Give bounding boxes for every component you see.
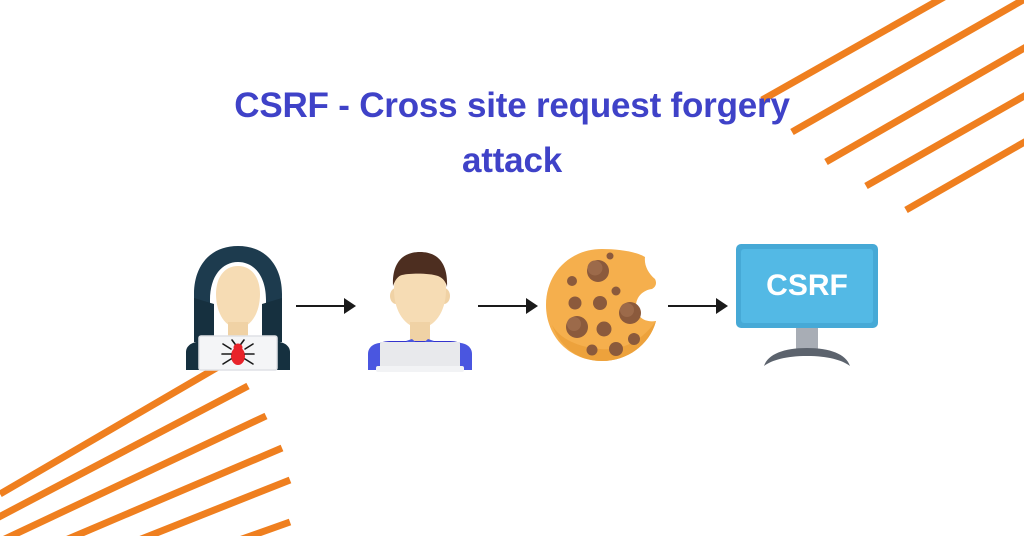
arrow-shaft: [296, 305, 348, 307]
flow-step-target-monitor: CSRF: [734, 242, 880, 370]
orange-diagonal-stripes-bottom-left: [0, 376, 290, 536]
arrow-shaft: [668, 305, 720, 307]
arrow-attacker-to-user: [296, 295, 362, 317]
arrow-user-to-cookie: [478, 295, 544, 317]
page-title-line-2: attack: [0, 133, 1024, 188]
cookie-icon: [544, 247, 668, 365]
page-title-line-1: CSRF - Cross site request forgery: [0, 78, 1024, 133]
flow-step-victim: [362, 242, 478, 370]
user-laptop-screen: [380, 342, 460, 370]
arrow-head: [526, 298, 538, 314]
monitor-screen-label: CSRF: [766, 269, 848, 302]
user-laptop-base: [376, 366, 464, 372]
arrow-head: [716, 298, 728, 314]
flow-step-cookie: [544, 247, 668, 365]
monitor-stand-base: [764, 348, 850, 366]
stripes-svg-bottom-left: [0, 376, 290, 536]
infographic-canvas: CSRF - Cross site request forgery attack: [0, 0, 1024, 536]
page-title: CSRF - Cross site request forgery attack: [0, 78, 1024, 189]
flow-step-attacker: [180, 242, 296, 370]
user-icon: [362, 242, 478, 370]
hacker-icon: [180, 242, 296, 370]
hacker-face: [216, 266, 260, 328]
attack-flow-diagram: CSRF: [180, 236, 860, 376]
arrow-shaft: [478, 305, 530, 307]
arrow-cookie-to-target: [668, 295, 734, 317]
monitor-icon[interactable]: CSRF: [734, 242, 880, 370]
monitor-stand-neck: [796, 328, 818, 350]
arrow-head: [344, 298, 356, 314]
